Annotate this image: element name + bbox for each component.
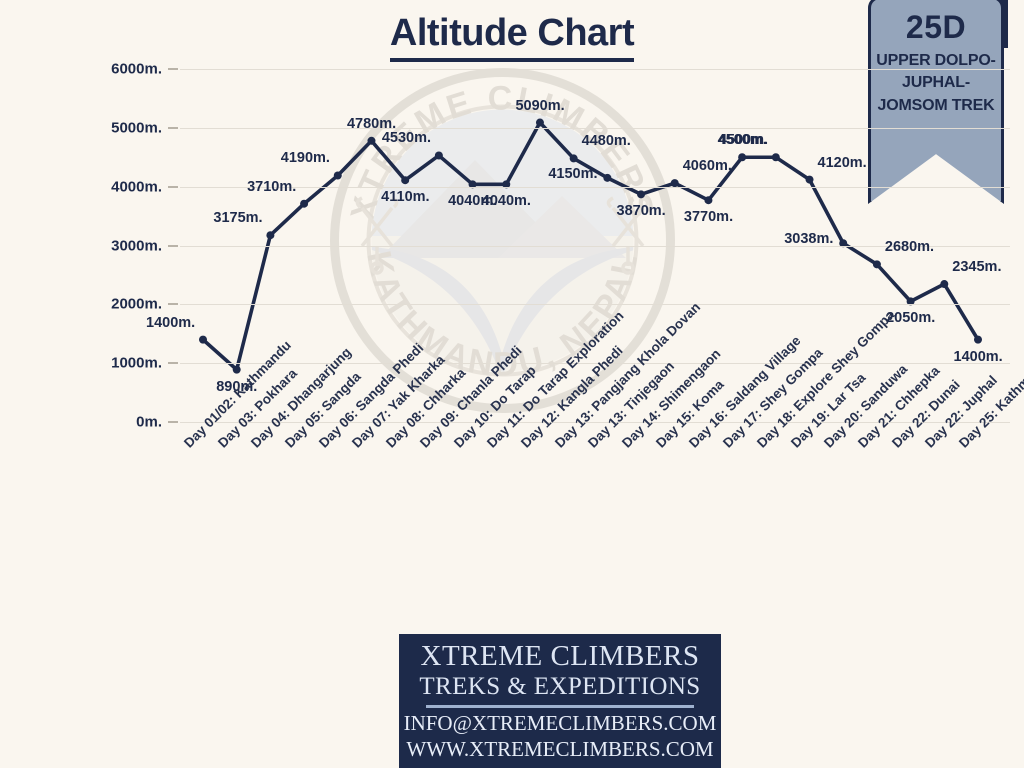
- gridline: [180, 69, 1010, 70]
- data-point-label: 4120m.: [818, 155, 867, 171]
- y-axis-label: 2000m.: [72, 296, 162, 313]
- data-point-label: 4040m.: [482, 193, 531, 209]
- footer-divider: [426, 705, 694, 708]
- data-point-marker: [873, 260, 881, 268]
- data-point-label: 4150m.: [548, 166, 597, 182]
- data-point-label: 4780m.: [347, 116, 396, 132]
- data-point-marker: [738, 153, 746, 161]
- y-axis-label: 0m.: [72, 414, 162, 431]
- data-point-marker: [199, 336, 207, 344]
- data-point-marker: [772, 153, 780, 161]
- data-point-label: 4110m.: [381, 189, 429, 205]
- data-point-label: 4060m.: [683, 158, 732, 174]
- y-axis-label: 4000m.: [72, 178, 162, 195]
- data-point-marker: [940, 280, 948, 288]
- gridline: [180, 187, 1010, 188]
- data-point-marker: [974, 336, 982, 344]
- y-axis-label: 6000m.: [72, 61, 162, 78]
- data-point-label: 4190m.: [281, 150, 330, 166]
- y-axis-tick: [168, 68, 178, 70]
- data-point-marker: [570, 154, 578, 162]
- data-point-label: 5090m.: [515, 98, 564, 114]
- data-point-marker: [233, 366, 241, 374]
- data-point-label: 3038m.: [784, 231, 833, 247]
- data-point-label: 3770m.: [684, 209, 733, 225]
- footer-company-tagline: TREKS & EXPEDITIONS: [419, 673, 700, 702]
- data-point-label: 3870m.: [617, 203, 666, 219]
- altitude-chart-page: Altitude Chart XTREME CLIMBERS: [0, 0, 1024, 768]
- gridline: [180, 128, 1010, 129]
- data-point-label: 4500m.: [719, 132, 768, 148]
- data-point-marker: [536, 119, 544, 127]
- data-point-marker: [637, 190, 645, 198]
- data-point-marker: [334, 171, 342, 179]
- data-point-marker: [806, 176, 814, 184]
- data-point-marker: [603, 174, 611, 182]
- footer-email: INFO@XTREMECLIMBERS.COM: [404, 710, 717, 736]
- y-axis-tick: [168, 303, 178, 305]
- footer-company-name: XTREME CLIMBERS: [421, 641, 700, 673]
- data-point-label: 4480m.: [582, 133, 631, 149]
- data-point-label: 3175m.: [213, 210, 262, 226]
- data-point-marker: [367, 137, 375, 145]
- gridline: [180, 304, 1010, 305]
- data-point-marker: [401, 176, 409, 184]
- data-point-label: 3710m.: [247, 179, 296, 195]
- data-point-label: 2345m.: [952, 259, 1001, 275]
- company-logo-box: XTREME CLIMBERS TREKS & EXPEDITIONS INFO…: [399, 634, 721, 768]
- y-axis-tick: [168, 127, 178, 129]
- data-point-marker: [300, 200, 308, 208]
- y-axis-tick: [168, 421, 178, 423]
- data-point-marker: [266, 231, 274, 239]
- y-axis-tick: [168, 245, 178, 247]
- y-axis-tick: [168, 362, 178, 364]
- data-point-label: 1400m.: [146, 315, 195, 331]
- y-axis-label: 3000m.: [72, 237, 162, 254]
- y-axis-tick: [168, 186, 178, 188]
- data-point-marker: [704, 196, 712, 204]
- data-point-label: 4530m.: [382, 130, 431, 146]
- data-point-label: 2680m.: [885, 239, 934, 255]
- footer-website: WWW.XTREMECLIMBERS.COM: [406, 736, 713, 762]
- data-point-marker: [435, 151, 443, 159]
- data-point-label: 1400m.: [954, 349, 1003, 365]
- y-axis-label: 5000m.: [72, 119, 162, 136]
- y-axis-label: 1000m.: [72, 355, 162, 372]
